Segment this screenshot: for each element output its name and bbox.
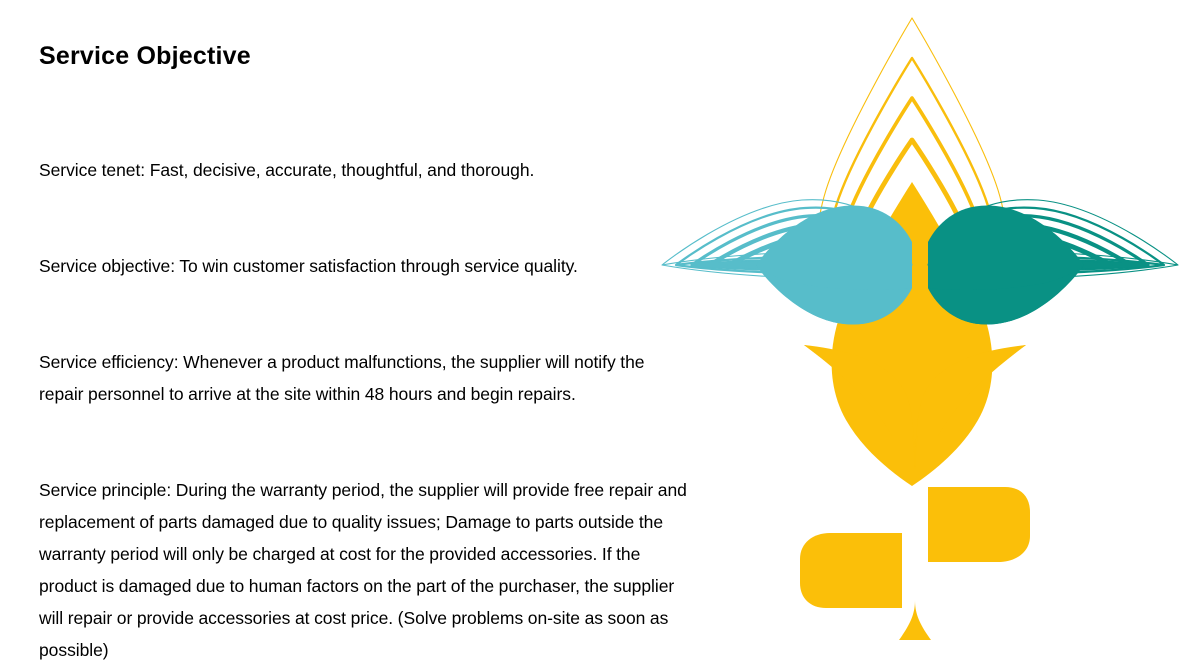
paragraph-service-efficiency: Service efficiency: Whenever a product m… — [39, 346, 689, 410]
body-text-block: Service tenet: Fast, decisive, accurate,… — [39, 90, 689, 660]
page-title: Service Objective — [39, 40, 689, 72]
plant-sprout-logo-icon — [640, 0, 1200, 660]
paragraph-service-principle: Service principle: During the warranty p… — [39, 474, 689, 660]
slide-canvas: Service Objective Service tenet: Fast, d… — [0, 0, 1200, 660]
lower-left-leaf — [800, 533, 902, 608]
paragraph-service-objective: Service objective: To win customer satis… — [39, 250, 689, 282]
upper-right-leaf — [928, 487, 1030, 562]
paragraph-service-tenet: Service tenet: Fast, decisive, accurate,… — [39, 154, 689, 186]
text-column: Service Objective Service tenet: Fast, d… — [39, 40, 689, 660]
